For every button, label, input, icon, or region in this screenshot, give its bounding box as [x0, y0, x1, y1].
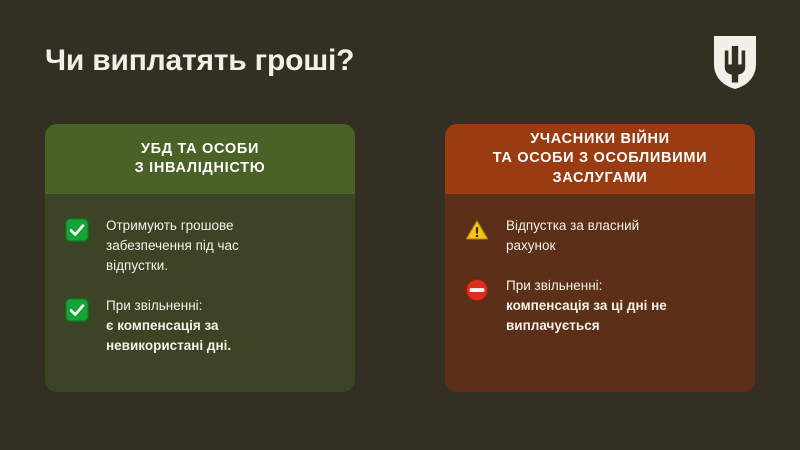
- list-item-text: При звільненні: є компенсація за невикор…: [106, 296, 231, 356]
- text-line: При звільненні:: [106, 296, 231, 316]
- text-line: компенсація за ці дні не: [506, 296, 667, 316]
- page-title: Чи виплатять гроші?: [45, 44, 354, 78]
- text-line: При звільненні:: [506, 276, 667, 296]
- warning-triangle-icon: [465, 218, 489, 242]
- list-item-text: При звільненні: компенсація за ці дні не…: [506, 276, 667, 336]
- card-left-header-text: УБД ТА ОСОБИ З ІНВАЛІДНІСТЮ: [135, 140, 266, 179]
- text-line: рахунок: [506, 236, 639, 256]
- card-right-body: Відпустка за власний рахунок При звільне…: [445, 194, 755, 336]
- check-mark-button-icon: [65, 218, 89, 242]
- ukraine-armed-forces-trident-shield-icon: [712, 34, 758, 90]
- card-left-body: Отримують грошове забезпечення під час в…: [45, 194, 355, 356]
- list-item: Відпустка за власний рахунок: [465, 216, 735, 256]
- card-right-header: УЧАСНИКИ ВІЙНИ ТА ОСОБИ З ОСОБЛИВИМИ ЗАС…: [445, 124, 755, 194]
- list-item: При звільненні: компенсація за ці дні не…: [465, 276, 735, 336]
- text-line: невикористані дні.: [106, 336, 231, 356]
- card-war-participants: УЧАСНИКИ ВІЙНИ ТА ОСОБИ З ОСОБЛИВИМИ ЗАС…: [445, 124, 755, 392]
- comparison-cards: УБД ТА ОСОБИ З ІНВАЛІДНІСТЮ Отримують гр…: [0, 124, 800, 394]
- check-mark-button-icon: [65, 298, 89, 322]
- card-left-header: УБД ТА ОСОБИ З ІНВАЛІДНІСТЮ: [45, 124, 355, 194]
- list-item: При звільненні: є компенсація за невикор…: [65, 296, 335, 356]
- page-header: Чи виплатять гроші?: [0, 0, 800, 124]
- text-line: Отримують грошове: [106, 216, 239, 236]
- card-right-header-text: УЧАСНИКИ ВІЙНИ ТА ОСОБИ З ОСОБЛИВИМИ ЗАС…: [493, 130, 708, 188]
- list-item-text: Відпустка за власний рахунок: [506, 216, 639, 256]
- text-line: є компенсація за: [106, 316, 231, 336]
- no-entry-icon: [465, 278, 489, 302]
- list-item-text: Отримують грошове забезпечення під час в…: [106, 216, 239, 276]
- text-line: виплачується: [506, 316, 667, 336]
- text-line: забезпечення під час: [106, 236, 239, 256]
- text-line: Відпустка за власний: [506, 216, 639, 236]
- list-item: Отримують грошове забезпечення під час в…: [65, 216, 335, 276]
- text-line: відпустки.: [106, 256, 239, 276]
- card-ubd-disability: УБД ТА ОСОБИ З ІНВАЛІДНІСТЮ Отримують гр…: [45, 124, 355, 392]
